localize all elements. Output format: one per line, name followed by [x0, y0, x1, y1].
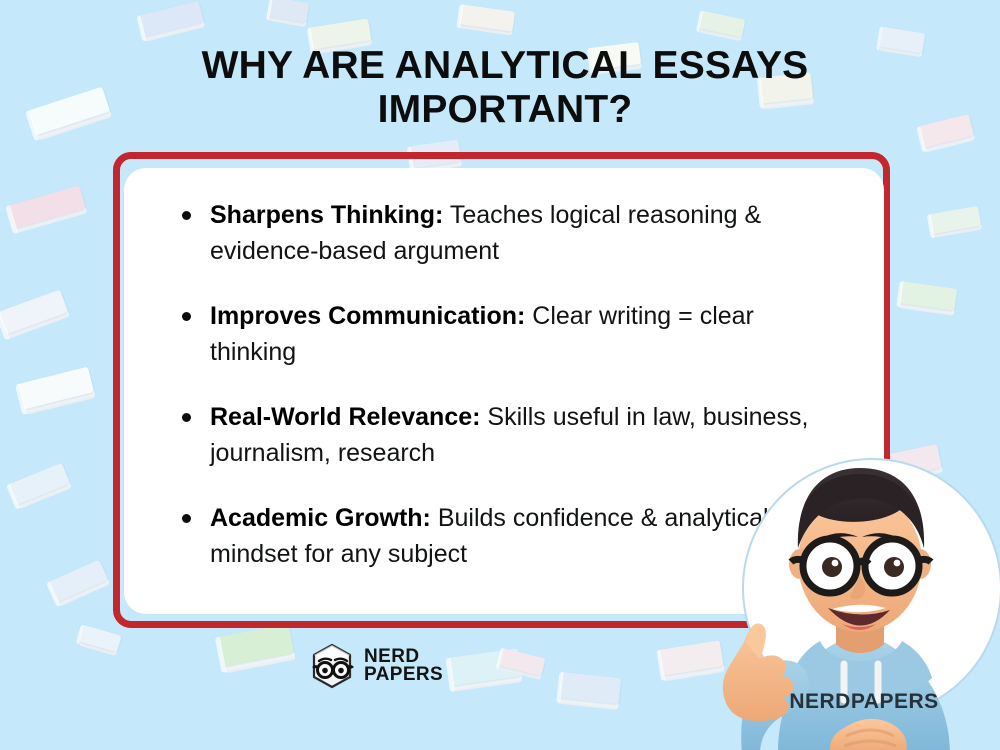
background-book-pages [78, 641, 117, 656]
bullet-dot-icon [182, 514, 191, 523]
background-book-spine [656, 650, 665, 681]
background-book-spine [6, 484, 20, 510]
list-item: Sharpens Thinking: Teaches logical reaso… [170, 198, 838, 269]
mascot-illustration: NERDPAPERS [712, 436, 1000, 750]
background-book-pages [58, 579, 110, 607]
background-book-pages [454, 674, 523, 691]
background-book-cover [918, 114, 974, 148]
background-book-spine [446, 657, 456, 691]
background-book-cover [929, 206, 982, 234]
background-book-cover [138, 0, 203, 36]
background-book-pages [17, 482, 72, 509]
list-item-heading: Real-World Relevance: [210, 403, 480, 431]
background-book [899, 281, 958, 311]
background-book [699, 11, 746, 38]
background-book-spine [46, 582, 60, 608]
background-book [918, 114, 974, 148]
background-book-spine [927, 214, 935, 238]
background-book-spine [25, 109, 40, 140]
background-book-pages [924, 135, 975, 153]
background-book [78, 625, 121, 652]
background-book-pages [899, 302, 954, 315]
background-book-pages [459, 23, 512, 36]
background-book [448, 648, 521, 685]
background-book-cover [78, 625, 121, 652]
background-book-spine [556, 672, 563, 703]
background-book-spine [136, 15, 147, 42]
background-book [48, 560, 108, 603]
background-book [929, 206, 982, 234]
list-item-heading: Sharpens Thinking: [210, 201, 443, 229]
page-title-line-1: WHY ARE ANALYTICAL ESSAYS [110, 44, 900, 88]
background-book-cover [899, 281, 958, 311]
background-book [8, 462, 70, 504]
list-item: Improves Communication: Clear writing = … [170, 299, 838, 370]
background-book-cover [0, 289, 68, 334]
background-book [138, 0, 203, 36]
background-book-pages [25, 391, 95, 415]
background-book-pages [559, 697, 618, 710]
infographic-poster: WHY ARE ANALYTICAL ESSAYS IMPORTANT? Sha… [0, 0, 1000, 750]
list-item-heading: Improves Communication: [210, 302, 525, 330]
background-book-pages [933, 225, 982, 239]
background-book-spine [0, 311, 10, 340]
background-book-cover [448, 648, 521, 685]
background-book-cover [8, 462, 70, 504]
background-book-spine [916, 126, 926, 152]
background-book-pages [498, 664, 541, 679]
background-book-spine [696, 10, 704, 32]
background-book [18, 367, 94, 410]
background-book [269, 0, 310, 23]
background-book-spine [896, 281, 904, 308]
bullet-dot-icon [182, 413, 191, 422]
background-book [218, 623, 294, 666]
background-book-pages [145, 21, 205, 41]
background-book-spine [76, 624, 84, 644]
bullet-dot-icon [182, 211, 191, 220]
background-book-cover [699, 11, 746, 38]
background-book-pages [7, 311, 70, 339]
background-book-pages [269, 16, 307, 28]
background-book-pages [225, 652, 296, 673]
background-book-pages [37, 110, 112, 140]
background-book-spine [266, 0, 273, 21]
background-book-cover [28, 86, 110, 135]
background-book [559, 672, 621, 704]
background-book-spine [5, 205, 18, 234]
background-book-cover [269, 0, 310, 23]
background-book-pages [16, 207, 87, 233]
mascot-character: NERDPAPERS [712, 436, 1000, 750]
background-book-cover [48, 560, 108, 603]
background-book-cover [218, 623, 294, 666]
background-book-cover [18, 367, 94, 410]
bullet-dot-icon [182, 312, 191, 321]
nerd-face-hexagon-icon [308, 642, 356, 690]
page-title-line-2: IMPORTANT? [110, 88, 900, 132]
hoodie-brand-text: NERDPAPERS [789, 690, 938, 713]
background-book-spine [496, 647, 504, 669]
background-book [459, 4, 515, 31]
brand-logo-line-2: PAPERS [364, 666, 443, 684]
background-book [0, 289, 68, 334]
background-book [28, 86, 110, 135]
brand-logo-text: NERD PAPERS [364, 648, 443, 685]
list-item-heading: Academic Growth: [210, 504, 431, 532]
background-book [498, 647, 545, 675]
background-book [8, 185, 86, 228]
background-book-cover [8, 185, 86, 228]
background-book-cover [459, 4, 515, 31]
page-title: WHY ARE ANALYTICAL ESSAYS IMPORTANT? [110, 44, 900, 131]
background-book-spine [456, 4, 463, 28]
background-book-pages [699, 28, 742, 42]
background-book-spine [215, 637, 227, 673]
background-book-cover [559, 672, 621, 704]
brand-logo: NERD PAPERS [308, 642, 443, 690]
background-book-spine [15, 384, 27, 415]
background-book-cover [498, 647, 545, 675]
